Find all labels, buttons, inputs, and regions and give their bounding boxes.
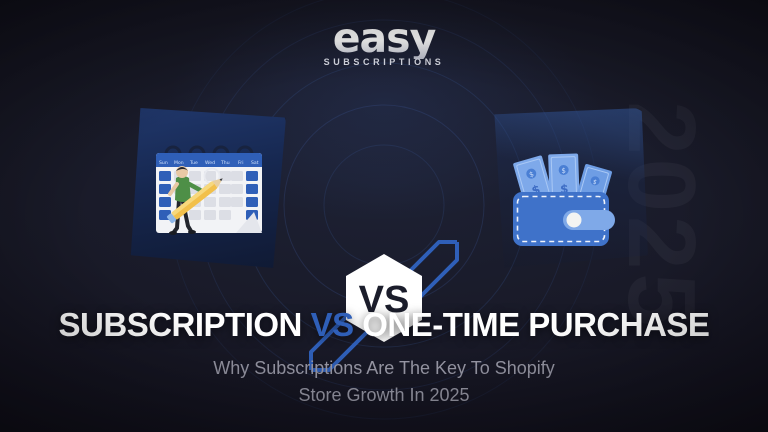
svg-text:$: $ xyxy=(561,167,566,175)
svg-text:Tue: Tue xyxy=(189,160,198,166)
svg-text:Fri: Fri xyxy=(238,160,243,166)
svg-text:Thu: Thu xyxy=(220,160,230,166)
logo-wordmark: easy xyxy=(324,18,445,59)
calendar-person-pencil-icon: Sun Mon Tue Wed Thu Fri Sat xyxy=(150,140,268,251)
subtitle-line-2: Store Growth In 2025 xyxy=(0,382,768,409)
svg-text:Wed: Wed xyxy=(205,160,215,166)
svg-text:Sat: Sat xyxy=(251,160,259,166)
title-vs-accent: VS xyxy=(311,306,354,343)
page-title: SUBSCRIPTION VS ONE-TIME PURCHASE xyxy=(0,306,768,344)
hero-banner: 2025 easy SUBSCRIPTIONS xyxy=(0,0,768,432)
title-part-2: ONE-TIME PURCHASE xyxy=(354,306,710,343)
comparison-row: Sun Mon Tue Wed Thu Fri Sat xyxy=(0,108,768,288)
wallet-cash-icon: $ $ $ $ $ xyxy=(505,148,623,255)
logo-subtext: SUBSCRIPTIONS xyxy=(324,57,445,67)
svg-text:Sun: Sun xyxy=(159,160,168,166)
brand-logo: easy SUBSCRIPTIONS xyxy=(324,18,445,67)
title-part-1: SUBSCRIPTION xyxy=(59,306,311,343)
svg-text:Mon: Mon xyxy=(174,160,184,166)
page-subtitle: Why Subscriptions Are The Key To Shopify… xyxy=(0,355,768,409)
subtitle-line-1: Why Subscriptions Are The Key To Shopify xyxy=(0,355,768,382)
